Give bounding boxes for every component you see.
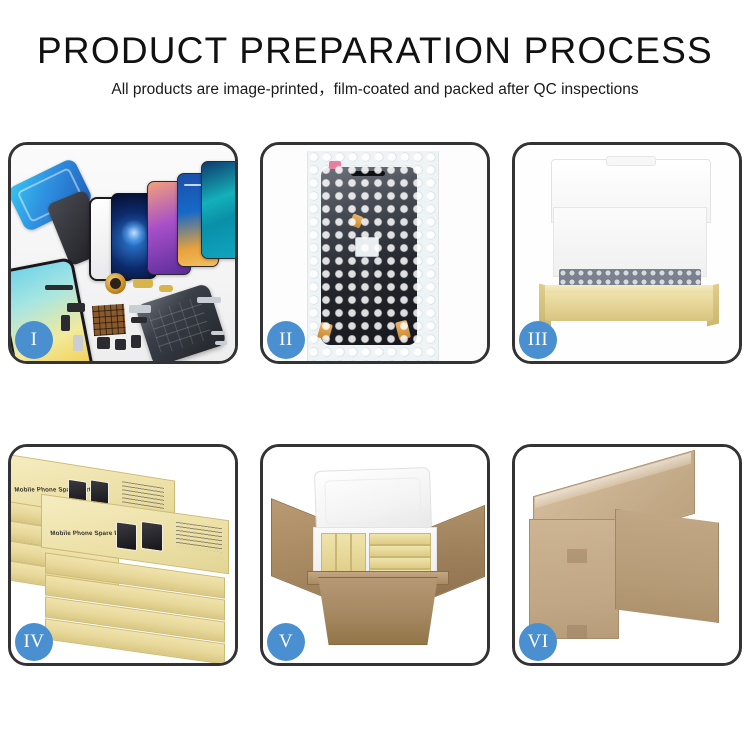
step-badge-5: V <box>267 623 305 661</box>
page-header: PRODUCT PREPARATION PROCESS All products… <box>0 0 750 100</box>
step-1-image: I <box>11 145 235 361</box>
packed-retail-box-4 <box>369 533 431 545</box>
carton-handle-cut-top <box>567 549 587 563</box>
step-badge-4: IV <box>15 623 53 661</box>
box-art-screen-4 <box>141 521 163 552</box>
step-badge-6: VI <box>519 623 557 661</box>
step-3-image: III <box>515 145 739 361</box>
box-spec-text-front <box>176 522 222 552</box>
white-foam-liner <box>553 207 707 277</box>
screw-grid-tray <box>92 304 126 336</box>
foam-box-lid <box>314 467 432 535</box>
step-4-image: Mobile Phone Spare Parts Mobile Phone Sp… <box>11 447 235 663</box>
teal-wave-phone <box>201 161 235 259</box>
kraft-box-base <box>545 291 713 321</box>
step-6-image: VI <box>515 447 739 663</box>
screw-part-2 <box>215 341 227 345</box>
sim-tray-part <box>73 335 83 351</box>
carton-front-face <box>529 519 619 639</box>
connector-part-1 <box>67 303 85 312</box>
step-badge-3: III <box>519 321 557 359</box>
speaker-mesh-part <box>45 285 73 290</box>
process-step-panel-6[interactable]: VI <box>512 444 742 666</box>
copper-coil-part <box>105 273 126 294</box>
process-step-grid: I II III <box>8 142 742 666</box>
step-5-image: V <box>263 447 487 663</box>
camera-module-part <box>97 337 110 349</box>
connector-part-2 <box>61 315 70 331</box>
carton-handle-cut-bottom <box>567 625 587 639</box>
packed-retail-box-5 <box>369 545 431 557</box>
process-step-panel-2[interactable]: II <box>260 142 490 364</box>
tweezers-tool <box>197 297 221 303</box>
process-step-panel-3[interactable]: III <box>512 142 742 364</box>
page-subtitle: All products are image-printed，film-coat… <box>0 80 750 100</box>
screen-connector <box>355 237 379 257</box>
pink-qc-sticker <box>329 161 341 169</box>
carton-side-face <box>615 509 719 623</box>
step-2-image: II <box>263 145 487 361</box>
flex-cable-part-1 <box>133 279 153 288</box>
page-title: PRODUCT PREPARATION PROCESS <box>0 30 750 72</box>
flex-cable-part-2 <box>159 285 173 292</box>
connector-part-3 <box>131 317 147 323</box>
carton-body <box>313 577 443 645</box>
metal-bracket-part <box>129 305 151 313</box>
process-step-panel-4[interactable]: Mobile Phone Spare Parts Mobile Phone Sp… <box>8 444 238 666</box>
screw-part-1 <box>211 331 225 335</box>
step-badge-2: II <box>267 321 305 359</box>
vibration-motor-part <box>115 339 126 350</box>
battery-connector-part <box>131 335 141 348</box>
step-badge-1: I <box>15 321 53 359</box>
process-step-panel-1[interactable]: I <box>8 142 238 364</box>
box-art-screen-3 <box>116 521 137 551</box>
process-step-panel-5[interactable]: V <box>260 444 490 666</box>
packed-retail-box-6 <box>369 557 431 569</box>
